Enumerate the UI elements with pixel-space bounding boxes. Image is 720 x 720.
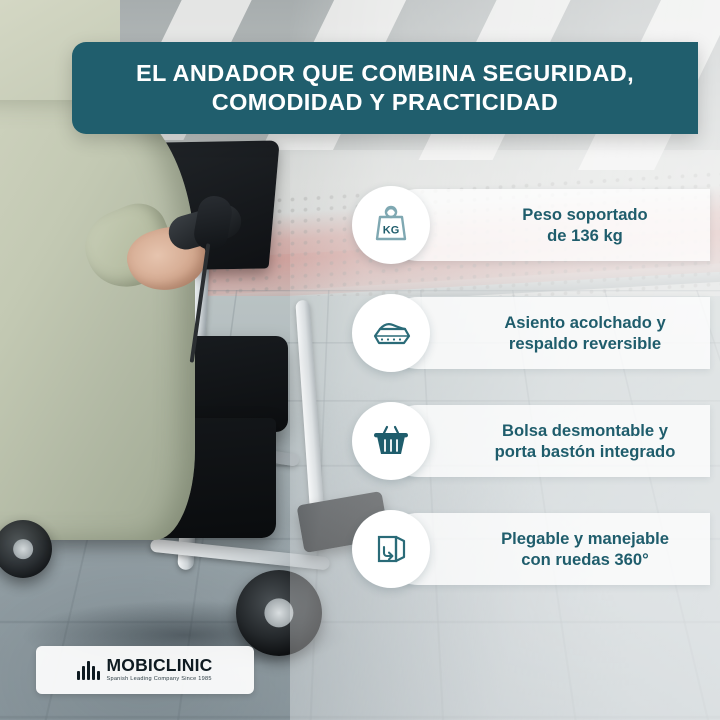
weight-icon-label: KG <box>383 225 400 237</box>
brand-logo: MOBICLINIC Spanish Leading Company Since… <box>36 646 254 694</box>
folding-360-icon <box>352 510 430 588</box>
headline-line-2: COMODIDAD Y PRACTICIDAD <box>136 88 634 117</box>
logo-tagline: Spanish Leading Company Since 1985 <box>106 677 211 683</box>
feature-text: Asiento acolchado y respaldo reversible <box>460 294 710 372</box>
feature-line-2: de 136 kg <box>460 225 710 246</box>
headline-line-1: EL ANDADOR QUE COMBINA SEGURIDAD, <box>136 59 634 88</box>
logo-name: MOBICLINIC <box>106 657 212 675</box>
feature-text: Bolsa desmontable y porta bastón integra… <box>460 402 710 480</box>
feature-line-1: Asiento acolchado y <box>460 312 710 333</box>
feature-line-1: Bolsa desmontable y <box>460 420 710 441</box>
logo-bars-icon <box>77 660 100 680</box>
headline-banner: EL ANDADOR QUE COMBINA SEGURIDAD, COMODI… <box>72 42 698 134</box>
weight-kg-icon: KG <box>352 186 430 264</box>
person-arm <box>0 100 195 540</box>
feature-item-folding: Plegable y manejable con ruedas 360° <box>352 510 710 588</box>
feature-text: Plegable y manejable con ruedas 360° <box>460 510 710 588</box>
feature-text: Peso soportado de 136 kg <box>460 186 710 264</box>
feature-list: KG Peso soportado de 136 kg <box>352 186 710 618</box>
basket-icon <box>352 402 430 480</box>
feature-item-seat: Asiento acolchado y respaldo reversible <box>352 294 710 372</box>
headline-text: EL ANDADOR QUE COMBINA SEGURIDAD, COMODI… <box>118 59 652 117</box>
cushioned-seat-icon <box>352 294 430 372</box>
screenshot-canvas: EL ANDADOR QUE COMBINA SEGURIDAD, COMODI… <box>0 0 720 720</box>
feature-line-2: con ruedas 360° <box>460 549 710 570</box>
feature-line-2: respaldo reversible <box>460 333 710 354</box>
feature-item-basket: Bolsa desmontable y porta bastón integra… <box>352 402 710 480</box>
feature-line-2: porta bastón integrado <box>460 441 710 462</box>
feature-line-1: Plegable y manejable <box>460 528 710 549</box>
feature-line-1: Peso soportado <box>460 204 710 225</box>
feature-item-weight: KG Peso soportado de 136 kg <box>352 186 710 264</box>
